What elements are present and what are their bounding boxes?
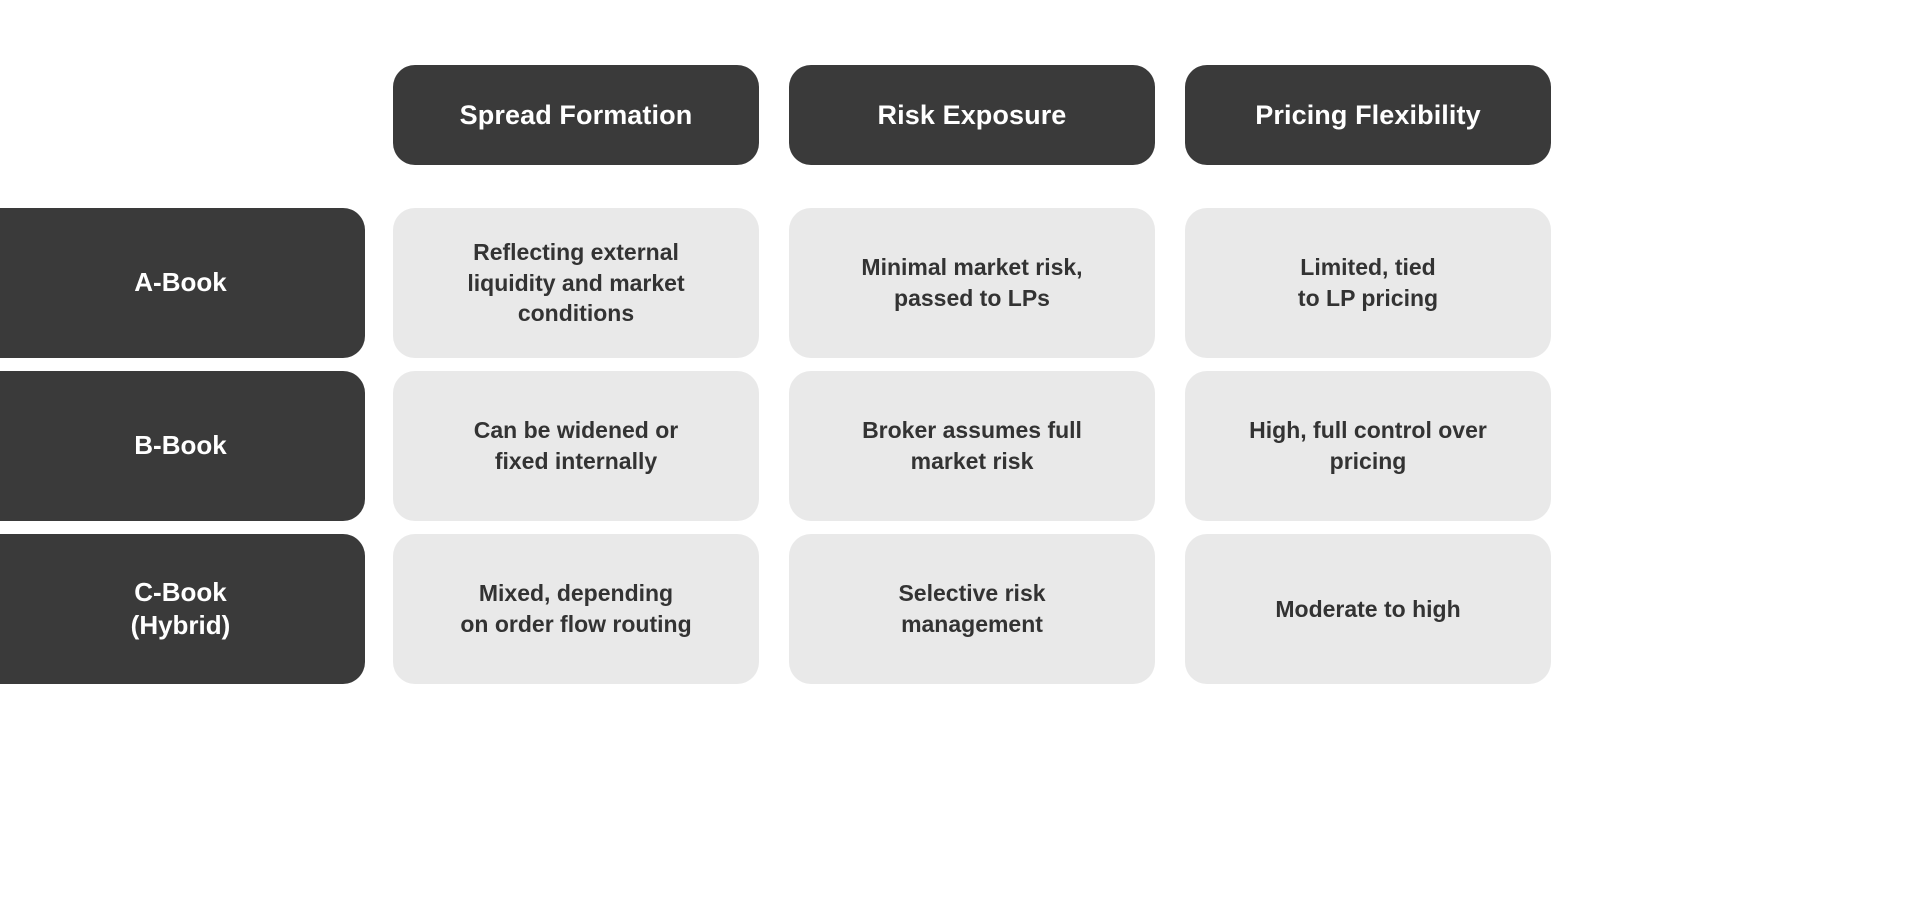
cell-text: High, full control over pricing bbox=[1249, 415, 1487, 476]
table-cell: Moderate to high bbox=[1185, 534, 1551, 684]
row-label-c-book-hybrid: C-Book (Hybrid) bbox=[0, 534, 365, 684]
cell-text: Mixed, depending on order flow routing bbox=[460, 578, 691, 639]
row-label-a-book: A-Book bbox=[0, 208, 365, 358]
table-cell: Limited, tied to LP pricing bbox=[1185, 208, 1551, 358]
table-cell: Reflecting external liquidity and market… bbox=[393, 208, 759, 358]
table-cell: Broker assumes full market risk bbox=[789, 371, 1155, 521]
grid-gap bbox=[365, 208, 393, 358]
row-label-text: A-Book bbox=[134, 266, 226, 299]
grid-gap bbox=[1155, 371, 1185, 521]
cell-text: Can be widened or fixed internally bbox=[474, 415, 678, 476]
comparison-matrix: Spread Formation Risk Exposure Pricing F… bbox=[0, 0, 1920, 905]
row-label-text: C-Book (Hybrid) bbox=[131, 576, 231, 643]
cell-text: Broker assumes full market risk bbox=[862, 415, 1082, 476]
column-header-risk-exposure: Risk Exposure bbox=[789, 65, 1155, 165]
table-cell: Can be widened or fixed internally bbox=[393, 371, 759, 521]
row-label-text: B-Book bbox=[134, 429, 226, 462]
cell-text: Selective risk management bbox=[898, 578, 1045, 639]
grid-gap bbox=[759, 534, 789, 684]
grid-gap bbox=[365, 534, 393, 684]
grid-gap bbox=[759, 208, 789, 358]
grid-gap bbox=[1155, 208, 1185, 358]
column-header-pricing-flexibility: Pricing Flexibility bbox=[1185, 65, 1551, 165]
cell-text: Moderate to high bbox=[1275, 594, 1460, 625]
grid-gap bbox=[365, 65, 393, 165]
matrix-grid: Spread Formation Risk Exposure Pricing F… bbox=[0, 65, 1920, 684]
header-corner-spacer bbox=[0, 65, 365, 165]
table-cell: Minimal market risk, passed to LPs bbox=[789, 208, 1155, 358]
column-header-label: Risk Exposure bbox=[878, 100, 1067, 131]
column-header-spread-formation: Spread Formation bbox=[393, 65, 759, 165]
table-cell: Mixed, depending on order flow routing bbox=[393, 534, 759, 684]
column-header-label: Pricing Flexibility bbox=[1255, 100, 1480, 131]
grid-gap bbox=[1155, 65, 1185, 165]
cell-text: Minimal market risk, passed to LPs bbox=[861, 252, 1082, 313]
table-cell: Selective risk management bbox=[789, 534, 1155, 684]
table-cell: High, full control over pricing bbox=[1185, 371, 1551, 521]
column-header-label: Spread Formation bbox=[460, 100, 693, 131]
cell-text: Limited, tied to LP pricing bbox=[1298, 252, 1438, 313]
grid-gap bbox=[1155, 534, 1185, 684]
grid-gap bbox=[759, 65, 789, 165]
header-row-spacer bbox=[0, 178, 1551, 195]
cell-text: Reflecting external liquidity and market… bbox=[467, 237, 684, 329]
grid-gap bbox=[365, 371, 393, 521]
grid-gap bbox=[759, 371, 789, 521]
row-label-b-book: B-Book bbox=[0, 371, 365, 521]
